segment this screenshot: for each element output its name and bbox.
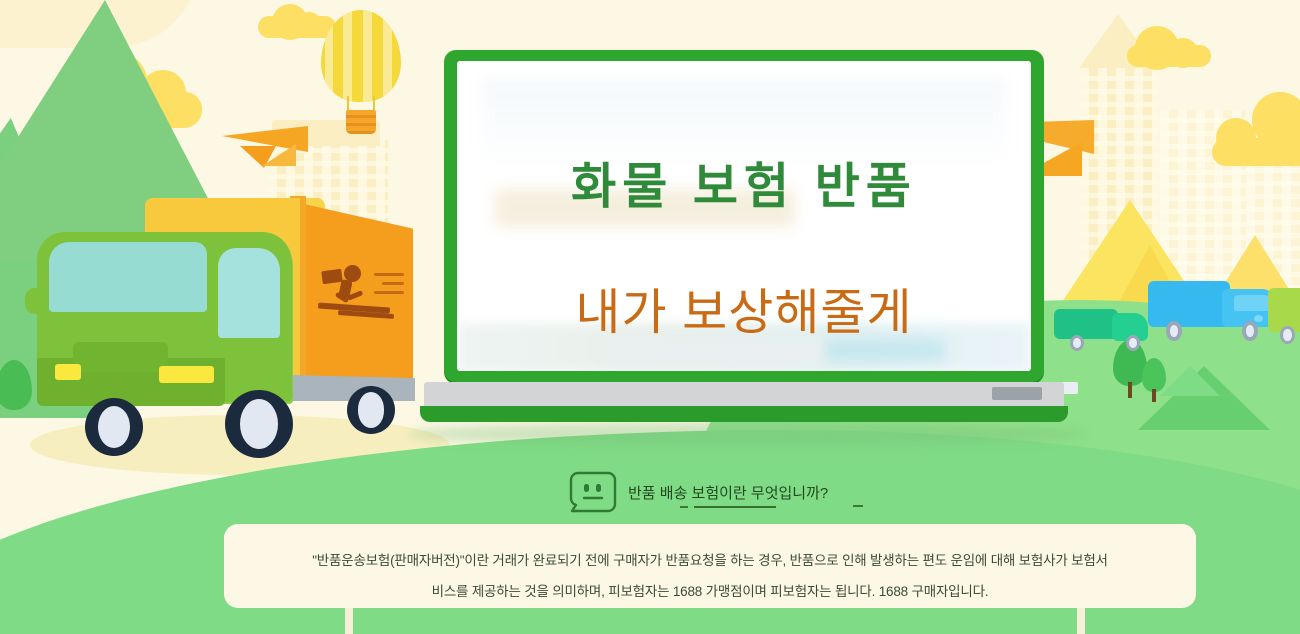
mini-truck-wheel (1126, 335, 1140, 351)
screen-title-main: 화물 보험 반품 (457, 147, 1031, 218)
mini-truck-wheel (1166, 321, 1182, 341)
faq-answer-card: "반품운송보험(판매자버전)"이란 거래가 완료되기 전에 구매자가 반품요청을… (224, 524, 1196, 608)
faq-underline-dash-left (680, 506, 688, 508)
balloon-basket (346, 110, 376, 134)
laptop-lid: 화물 보험 반품 내가 보상해줄게 (444, 50, 1044, 382)
tree-trunk (1152, 389, 1156, 402)
courier-parcel (321, 269, 343, 285)
screen-title-sub: 내가 보상해줄게 (457, 273, 1031, 344)
banner-scene: 화물 보험 반품 내가 보상해줄게 반품 배송 보험이란 무엇입니까? "반품운… (0, 0, 1300, 634)
cloud-3-body (1127, 45, 1211, 67)
tree-small (1142, 358, 1166, 400)
truck-headlight-left (55, 364, 81, 380)
hot-air-balloon (321, 10, 401, 138)
truck-side-window (218, 248, 280, 338)
delivery-truck (25, 190, 435, 455)
running-courier-icon (320, 265, 400, 320)
tree-trunk (1128, 382, 1132, 398)
truck-mirror (25, 288, 47, 314)
faq-underline-dash-right (853, 505, 863, 507)
faq-question: 반품 배송 보험이란 무엇입니까? (628, 482, 828, 503)
plane-wing-fold (262, 144, 296, 166)
mini-truck-lime (1268, 288, 1300, 348)
truck-wheel-mid (225, 390, 293, 458)
mini-truck-wheel (1242, 321, 1258, 341)
card-post-left (345, 608, 353, 634)
mini-truck-wheel (1280, 326, 1295, 344)
mini-truck-box (1054, 309, 1118, 339)
truck-grille (73, 342, 168, 372)
laptop-shadow (408, 422, 1088, 446)
speed-line (374, 273, 404, 276)
card-post-right (1077, 608, 1085, 634)
mini-truck-wheel (1070, 335, 1084, 351)
laptop-device: 화물 보험 반품 내가 보상해줄게 (444, 50, 1044, 395)
mini-truck-window (1234, 295, 1272, 311)
mini-truck-headlight (1254, 315, 1263, 322)
truck-wheel-front (85, 398, 143, 456)
laptop-screen: 화물 보험 반품 내가 보상해줄게 (457, 61, 1031, 371)
mini-truck-box (1148, 281, 1230, 327)
cloud-4-body (1212, 138, 1300, 166)
mini-truck-green (1054, 305, 1162, 353)
faq-answer-line-2: 비스를 제공하는 것을 의미하며, 피보험자는 1688 가맹점이며 피보험자는… (224, 580, 1196, 600)
tree-crown (1142, 358, 1166, 392)
paper-plane-left-icon (222, 126, 312, 172)
truck-wheel-rear (347, 386, 395, 434)
speed-line (382, 282, 404, 285)
balloon-envelope (321, 10, 401, 102)
laptop-trackpad (992, 387, 1042, 400)
speed-line (374, 291, 404, 294)
chat-face-icon (568, 470, 618, 514)
laptop-foot (420, 406, 1068, 422)
mini-truck-box (1268, 288, 1300, 332)
truck-headlight-right (159, 366, 214, 383)
faq-answer-line-1: "반품운송보험(판매자버전)"이란 거래가 완료되기 전에 구매자가 반품요청을… (224, 549, 1196, 569)
faq-underline (694, 506, 776, 508)
truck-windshield (49, 242, 207, 312)
